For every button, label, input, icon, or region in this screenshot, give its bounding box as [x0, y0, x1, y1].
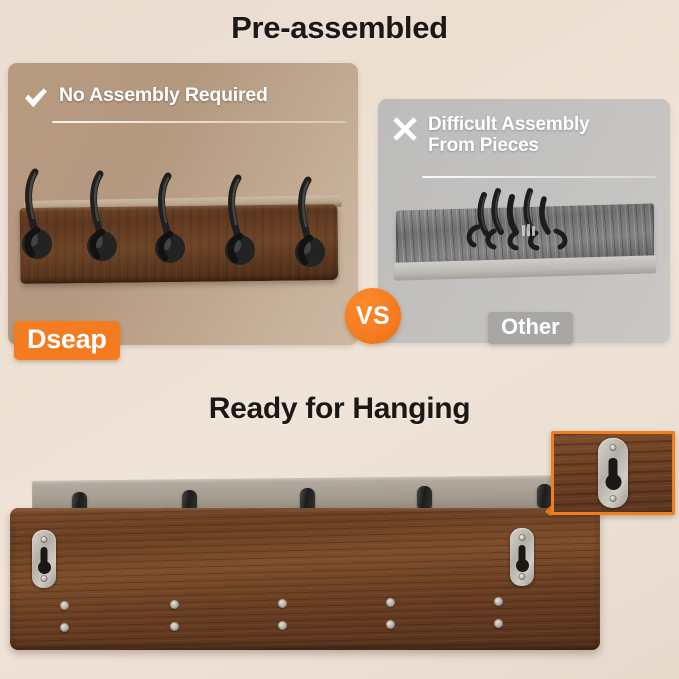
keyhole-screw-top: [610, 444, 617, 451]
keyhole-screw-bottom: [610, 495, 617, 502]
keyhole-screw-top: [519, 534, 526, 541]
screw-r1-c4: [386, 598, 395, 607]
product-photo-dseap-rack: [10, 168, 358, 298]
hook-5: [291, 176, 331, 270]
hook-tip-5: [537, 484, 552, 508]
keyhole-screw-top: [41, 536, 48, 543]
comparison-panel-other: Difficult Assembly From Pieces: [378, 99, 670, 343]
screw-r1-c3: [278, 599, 287, 608]
product-photo-other-rack: [386, 185, 662, 303]
infographic-canvas: Pre-assembled No Assembly Required: [0, 0, 679, 679]
screw-r2-c4: [386, 620, 395, 629]
page-title-pre-assembled: Pre-assembled: [0, 10, 679, 46]
screw-r1-c5: [494, 597, 503, 606]
panel-header-left: No Assembly Required: [23, 85, 268, 111]
keyhole-slot: [609, 458, 618, 484]
panel-divider-left: [52, 121, 346, 123]
screw-r2-c3: [278, 621, 287, 630]
hook-tip-4: [417, 486, 432, 510]
keyhole-hanger-left: [32, 530, 56, 588]
panel-title-right: Difficult Assembly From Pieces: [428, 115, 589, 156]
versus-badge: VS: [345, 288, 401, 344]
section-title-ready-for-hanging: Ready for Hanging: [0, 392, 679, 426]
screw-r1-c1: [60, 601, 69, 610]
keyhole-screw-bottom: [41, 575, 48, 582]
cross-icon: [392, 115, 418, 141]
screw-r1-c2: [170, 600, 179, 609]
screw-r2-c2: [170, 622, 179, 631]
loose-hooks-pile: [464, 185, 594, 255]
panel-header-right: Difficult Assembly From Pieces: [392, 115, 589, 156]
hook-1: [18, 168, 58, 262]
keyhole-slot: [519, 545, 526, 567]
panel-divider-right: [422, 176, 656, 178]
hook-4: [221, 174, 261, 268]
rack-back-panel: [10, 508, 600, 650]
panel-title-left: No Assembly Required: [59, 85, 268, 106]
screw-r2-c5: [494, 619, 503, 628]
keyhole-hanger-right: [510, 528, 534, 586]
check-icon: [23, 85, 49, 111]
hook-3: [151, 172, 191, 266]
keyhole-screw-bottom: [519, 573, 526, 580]
competitor-badge-other: Other: [488, 312, 573, 344]
comparison-panel-dseap: No Assembly Required: [8, 63, 358, 345]
callout-keyhole-detail: [551, 431, 675, 515]
screw-r2-c1: [60, 623, 69, 632]
keyhole-slot: [41, 547, 48, 569]
product-photo-rack-rear-view: [10, 470, 602, 652]
brand-badge-dseap: Dseap: [14, 321, 120, 360]
hook-2: [83, 170, 123, 264]
keyhole-hanger-magnified: [598, 438, 628, 508]
